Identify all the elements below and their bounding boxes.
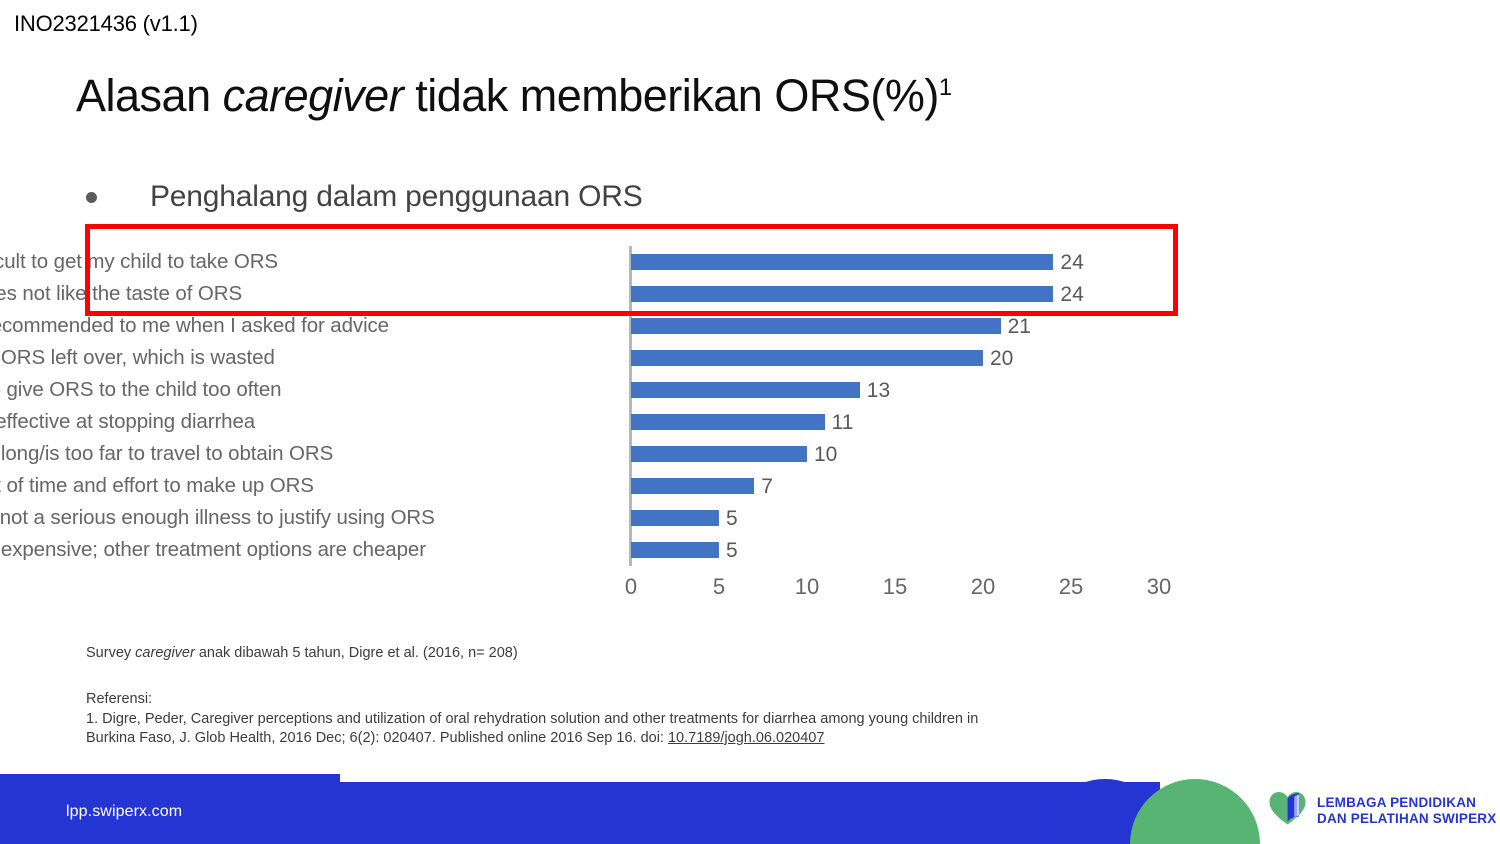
chart-bar-value-label: 7 <box>761 476 773 497</box>
footer-url-label[interactable]: lpp.swiperx.com <box>66 803 182 821</box>
chart-x-tick-label: 20 <box>971 574 995 600</box>
chart-x-tick-label: 25 <box>1059 574 1083 600</box>
bar-chart: ficult to get my child to take ORS24oes … <box>0 246 1200 616</box>
chart-bar-value-label: 20 <box>990 348 1013 369</box>
brand-logo-line-1: LEMBAGA PENDIDIKAN <box>1317 795 1496 811</box>
brand-logo-line-2: DAN PELATIHAN SWIPERX <box>1317 811 1496 827</box>
chart-bar-group: 13 <box>631 374 890 406</box>
chart-category-label: recommended to me when I asked for advic… <box>0 310 625 342</box>
chart-bar-group: 7 <box>631 470 773 502</box>
chart-category-label: ot of time and effort to make up ORS <box>0 470 625 502</box>
chart-bar-row: ot of time and effort to make up ORS7 <box>0 470 1200 502</box>
chart-bar-value-label: 5 <box>726 508 738 529</box>
source-note: Survey caregiver anak dibawah 5 tahun, D… <box>86 645 518 661</box>
chart-bar-value-label: 5 <box>726 540 738 561</box>
chart-bar-value-label: 11 <box>832 412 854 433</box>
title-italic-caregiver: caregiver <box>223 70 404 121</box>
chart-bar-row: oes not like the taste of ORS24 <box>0 278 1200 310</box>
chart-bar-group: 21 <box>631 310 1031 342</box>
source-note-prefix: Survey <box>86 645 135 661</box>
reference-line-2-text: Burkina Faso, J. Glob Health, 2016 Dec; … <box>86 730 668 746</box>
chart-bar-row: to give ORS to the child too often13 <box>0 374 1200 406</box>
chart-category-label: o expensive; other treatment options are… <box>0 534 625 566</box>
chart-bar <box>631 350 983 366</box>
bullet-item: Penghalang dalam penggunaan ORS <box>86 180 643 214</box>
chart-bar-group: 10 <box>631 438 837 470</box>
chart-bar <box>631 446 807 462</box>
chart-category-label: t effective at stopping diarrhea <box>0 406 625 438</box>
chart-bar-value-label: 24 <box>1060 284 1083 305</box>
title-part-2: tidak memberikan ORS(%) <box>403 70 939 121</box>
reference-line-1: 1. Digre, Peder, Caregiver perceptions a… <box>86 710 978 730</box>
chart-bar-row: e ORS left over, which is wasted20 <box>0 342 1200 374</box>
chart-bar-row: t effective at stopping diarrhea11 <box>0 406 1200 438</box>
chart-bar-row: ficult to get my child to take ORS24 <box>0 246 1200 278</box>
chart-bar-row: o expensive; other treatment options are… <box>0 534 1200 566</box>
chart-x-tick-label: 30 <box>1147 574 1171 600</box>
doi-link[interactable]: 10.7189/jogh.06.020407 <box>668 730 824 746</box>
chart-bar-row: recommended to me when I asked for advic… <box>0 310 1200 342</box>
chart-category-label: e ORS left over, which is wasted <box>0 342 625 374</box>
source-note-suffix: anak dibawah 5 tahun, Digre et al. (2016… <box>195 645 518 661</box>
chart-x-tick-label: 5 <box>713 574 725 600</box>
reference-line-2: Burkina Faso, J. Glob Health, 2016 Dec; … <box>86 729 978 749</box>
references-block: Referensi: 1. Digre, Peder, Caregiver pe… <box>86 690 978 749</box>
chart-bar <box>631 382 860 398</box>
chart-x-tick-label: 10 <box>795 574 819 600</box>
chart-bar <box>631 286 1053 302</box>
chart-bar <box>631 478 754 494</box>
slide-footer: lpp.swiperx.com LEMBAGA PENDIDIKAN DAN P… <box>0 774 1500 844</box>
chart-rows: ficult to get my child to take ORS24oes … <box>0 246 1200 566</box>
heart-book-logo-icon <box>1268 790 1308 831</box>
bullet-item-label: Penghalang dalam penggunaan ORS <box>150 180 643 214</box>
chart-x-axis: 051015202530 <box>631 574 1191 604</box>
chart-bar-value-label: 21 <box>1008 316 1031 337</box>
chart-bar-group: 11 <box>631 406 853 438</box>
chart-bar-row: s not a serious enough illness to justif… <box>0 502 1200 534</box>
brand-logo-text: LEMBAGA PENDIDIKAN DAN PELATIHAN SWIPERX <box>1317 795 1496 827</box>
chart-bar <box>631 318 1001 334</box>
chart-bar-group: 5 <box>631 502 738 534</box>
chart-bar <box>631 542 719 558</box>
chart-bar-group: 24 <box>631 246 1084 278</box>
chart-x-tick-label: 15 <box>883 574 907 600</box>
slide-code: INO2321436 (v1.1) <box>14 11 198 37</box>
chart-category-label: to give ORS to the child too often <box>0 374 625 406</box>
chart-bar-group: 24 <box>631 278 1084 310</box>
chart-bar-value-label: 13 <box>867 380 890 401</box>
chart-bar-row: o long/is too far to travel to obtain OR… <box>0 438 1200 470</box>
chart-x-tick-label: 0 <box>625 574 637 600</box>
chart-bar-value-label: 24 <box>1060 252 1083 273</box>
chart-bar <box>631 510 719 526</box>
title-part-1: Alasan <box>76 70 223 121</box>
chart-bar <box>631 414 825 430</box>
chart-category-label: s not a serious enough illness to justif… <box>0 502 625 534</box>
brand-logo: LEMBAGA PENDIDIKAN DAN PELATIHAN SWIPERX <box>1268 790 1496 831</box>
chart-bar-group: 5 <box>631 534 738 566</box>
bullet-dot-icon <box>86 192 97 203</box>
source-note-italic: caregiver <box>135 645 195 661</box>
page-title: Alasan caregiver tidak memberikan ORS(%)… <box>76 70 952 122</box>
chart-category-label: o long/is too far to travel to obtain OR… <box>0 438 625 470</box>
chart-bar <box>631 254 1053 270</box>
chart-category-label: oes not like the taste of ORS <box>0 278 625 310</box>
chart-bar-value-label: 10 <box>814 444 837 465</box>
chart-bar-group: 20 <box>631 342 1013 374</box>
title-footnote-marker: 1 <box>939 74 952 101</box>
references-heading: Referensi: <box>86 690 978 710</box>
chart-category-label: ficult to get my child to take ORS <box>0 246 625 278</box>
